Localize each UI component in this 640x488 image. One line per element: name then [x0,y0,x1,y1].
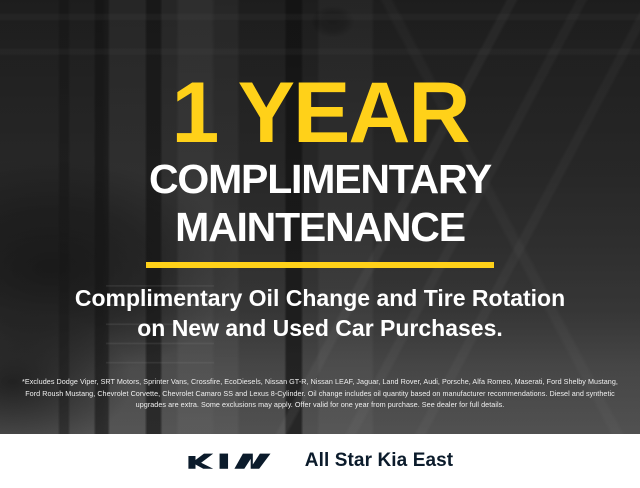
kia-logo [187,448,279,474]
subcopy-line-1: Complimentary Oil Change and Tire Rotati… [75,284,565,314]
dealer-name: All Star Kia East [305,450,453,472]
subcopy-line-2: on New and Used Car Purchases. [75,314,565,344]
yellow-divider-rule [146,262,494,268]
disclaimer-text: *Excludes Dodge Viper, SRT Motors, Sprin… [14,376,626,411]
headline-maintenance: MAINTENANCE [175,207,465,249]
hero-section: 1 YEAR COMPLIMENTARY MAINTENANCE Complim… [0,0,640,434]
headline-complimentary: COMPLIMENTARY [149,159,491,201]
promotional-banner: 1 YEAR COMPLIMENTARY MAINTENANCE Complim… [0,0,640,488]
headline-year: 1 YEAR [171,74,468,153]
hero-copy-stack: 1 YEAR COMPLIMENTARY MAINTENANCE Complim… [0,0,640,434]
footer-bar: All Star Kia East [0,434,640,488]
subcopy-block: Complimentary Oil Change and Tire Rotati… [75,284,565,344]
